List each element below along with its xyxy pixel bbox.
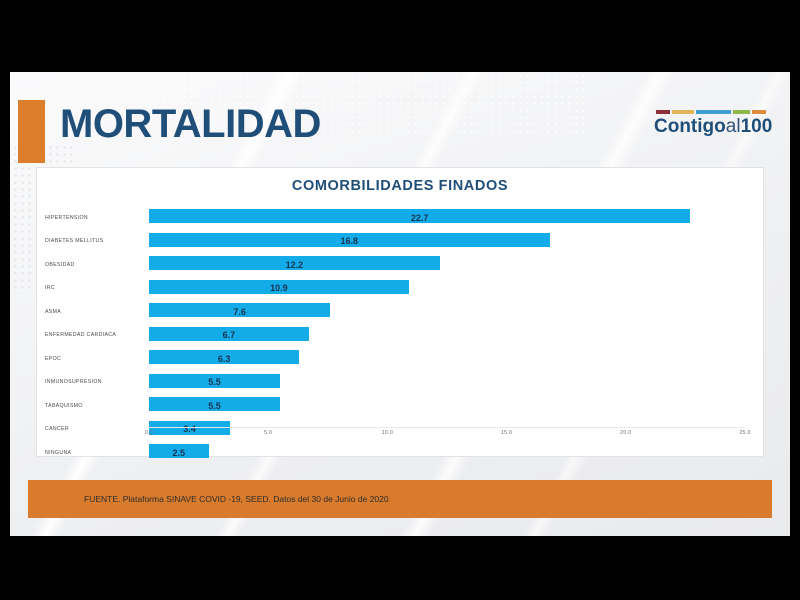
bar-track: 2.5 <box>149 441 745 465</box>
bar-category-label: OBESIDAD <box>45 262 145 268</box>
bar-value-label: 6.3 <box>218 354 231 364</box>
page-title: MORTALIDAD <box>60 103 321 145</box>
chart-bar-row: DIABETES MELLITUS16.8 <box>37 230 763 254</box>
brand-logo: Contigoal100 <box>654 110 766 136</box>
logo-stripe-blue <box>696 110 732 114</box>
bar-category-label: INMUNOSUPRESION <box>45 379 145 385</box>
bar-value-label: 2.5 <box>173 448 186 458</box>
bar-value-label: 22.7 <box>411 213 429 223</box>
logo-stripe-gold <box>672 110 694 114</box>
chart-bar-row: IRC10.9 <box>37 277 763 301</box>
chart-bar-row: ASMA7.6 <box>37 300 763 324</box>
chart-bar-row: OBESIDAD12.2 <box>37 253 763 277</box>
bar-track: 22.7 <box>149 206 745 230</box>
bar-category-label: EPOC <box>45 356 145 362</box>
chart-bar-row: INMUNOSUPRESION5.5 <box>37 371 763 395</box>
bar-value-label: 10.9 <box>270 283 288 293</box>
chart-bar-row: TABAQUISMO5.5 <box>37 394 763 418</box>
bar-track: 16.8 <box>149 230 745 254</box>
x-axis-tick-label: 10.0 <box>382 430 393 436</box>
source-band: FUENTE. Plataforma SINAVE COVID -19, SEE… <box>28 480 772 518</box>
bar-value-label: 16.8 <box>340 236 358 246</box>
logo-word-contigo: Contigo <box>654 116 726 137</box>
bar-value-label: 5.5 <box>208 401 221 411</box>
bar-track: 12.2 <box>149 253 745 277</box>
bar-category-label: DIABETES MELLITUS <box>45 238 145 244</box>
bar-category-label: NINGUNA <box>45 450 145 456</box>
bar-rows: HIPERTENSION22.7DIABETES MELLITUS16.8OBE… <box>37 206 763 465</box>
logo-stripe-group <box>656 110 766 114</box>
x-axis-tick-label: 0.0 <box>145 430 153 436</box>
bar-value-label: 12.2 <box>286 260 304 270</box>
chart-title: COMORBILIDADES FINADOS <box>37 178 763 194</box>
chart-panel: COMORBILIDADES FINADOS HIPERTENSION22.7D… <box>36 167 764 457</box>
x-axis: 0.05.010.015.020.025.0 <box>149 427 745 442</box>
chart-plot-area: HIPERTENSION22.7DIABETES MELLITUS16.8OBE… <box>37 204 763 456</box>
bar-category-label: ASMA <box>45 309 145 315</box>
bar-category-label: TABAQUISMO <box>45 403 145 409</box>
chart-bar-row: NINGUNA2.5 <box>37 441 763 465</box>
bar-track: 6.3 <box>149 347 745 371</box>
logo-stripe-green <box>733 110 750 114</box>
x-axis-tick-label: 20.0 <box>620 430 631 436</box>
bar-track: 7.6 <box>149 300 745 324</box>
x-axis-tick-label: 5.0 <box>264 430 272 436</box>
x-axis-tick-label: 15.0 <box>501 430 512 436</box>
presentation-slide: MORTALIDAD Contigoal100 COMORBILIDADES F… <box>10 72 790 536</box>
logo-wordmark: Contigoal100 <box>654 117 766 136</box>
bar-track: 6.7 <box>149 324 745 348</box>
title-accent-bar <box>18 100 45 163</box>
bar-value-label: 7.6 <box>233 307 246 317</box>
bar-category-label: HIPERTENSION <box>45 215 145 221</box>
logo-stripe-maroon <box>656 110 670 114</box>
slide-viewer: MORTALIDAD Contigoal100 COMORBILIDADES F… <box>0 0 800 600</box>
logo-word-al: al <box>726 116 741 137</box>
chart-bar-row: ENFERMEDAD CARDIACA6.7 <box>37 324 763 348</box>
bar-track: 5.5 <box>149 394 745 418</box>
chart-bar-row: HIPERTENSION22.7 <box>37 206 763 230</box>
bar-value-label: 6.7 <box>223 330 236 340</box>
bar-value-label: 5.5 <box>208 377 221 387</box>
bar-track: 10.9 <box>149 277 745 301</box>
bar-category-label: CANCER <box>45 426 145 432</box>
logo-stripe-orange <box>752 110 766 114</box>
x-axis-tick-label: 25.0 <box>739 430 750 436</box>
source-text: FUENTE. Plataforma SINAVE COVID -19, SEE… <box>84 494 389 504</box>
bar-category-label: ENFERMEDAD CARDIACA <box>45 332 145 338</box>
chart-bar-row: EPOC6.3 <box>37 347 763 371</box>
bar-category-label: IRC <box>45 285 145 291</box>
bar-track: 5.5 <box>149 371 745 395</box>
logo-word-100: 100 <box>741 116 773 137</box>
